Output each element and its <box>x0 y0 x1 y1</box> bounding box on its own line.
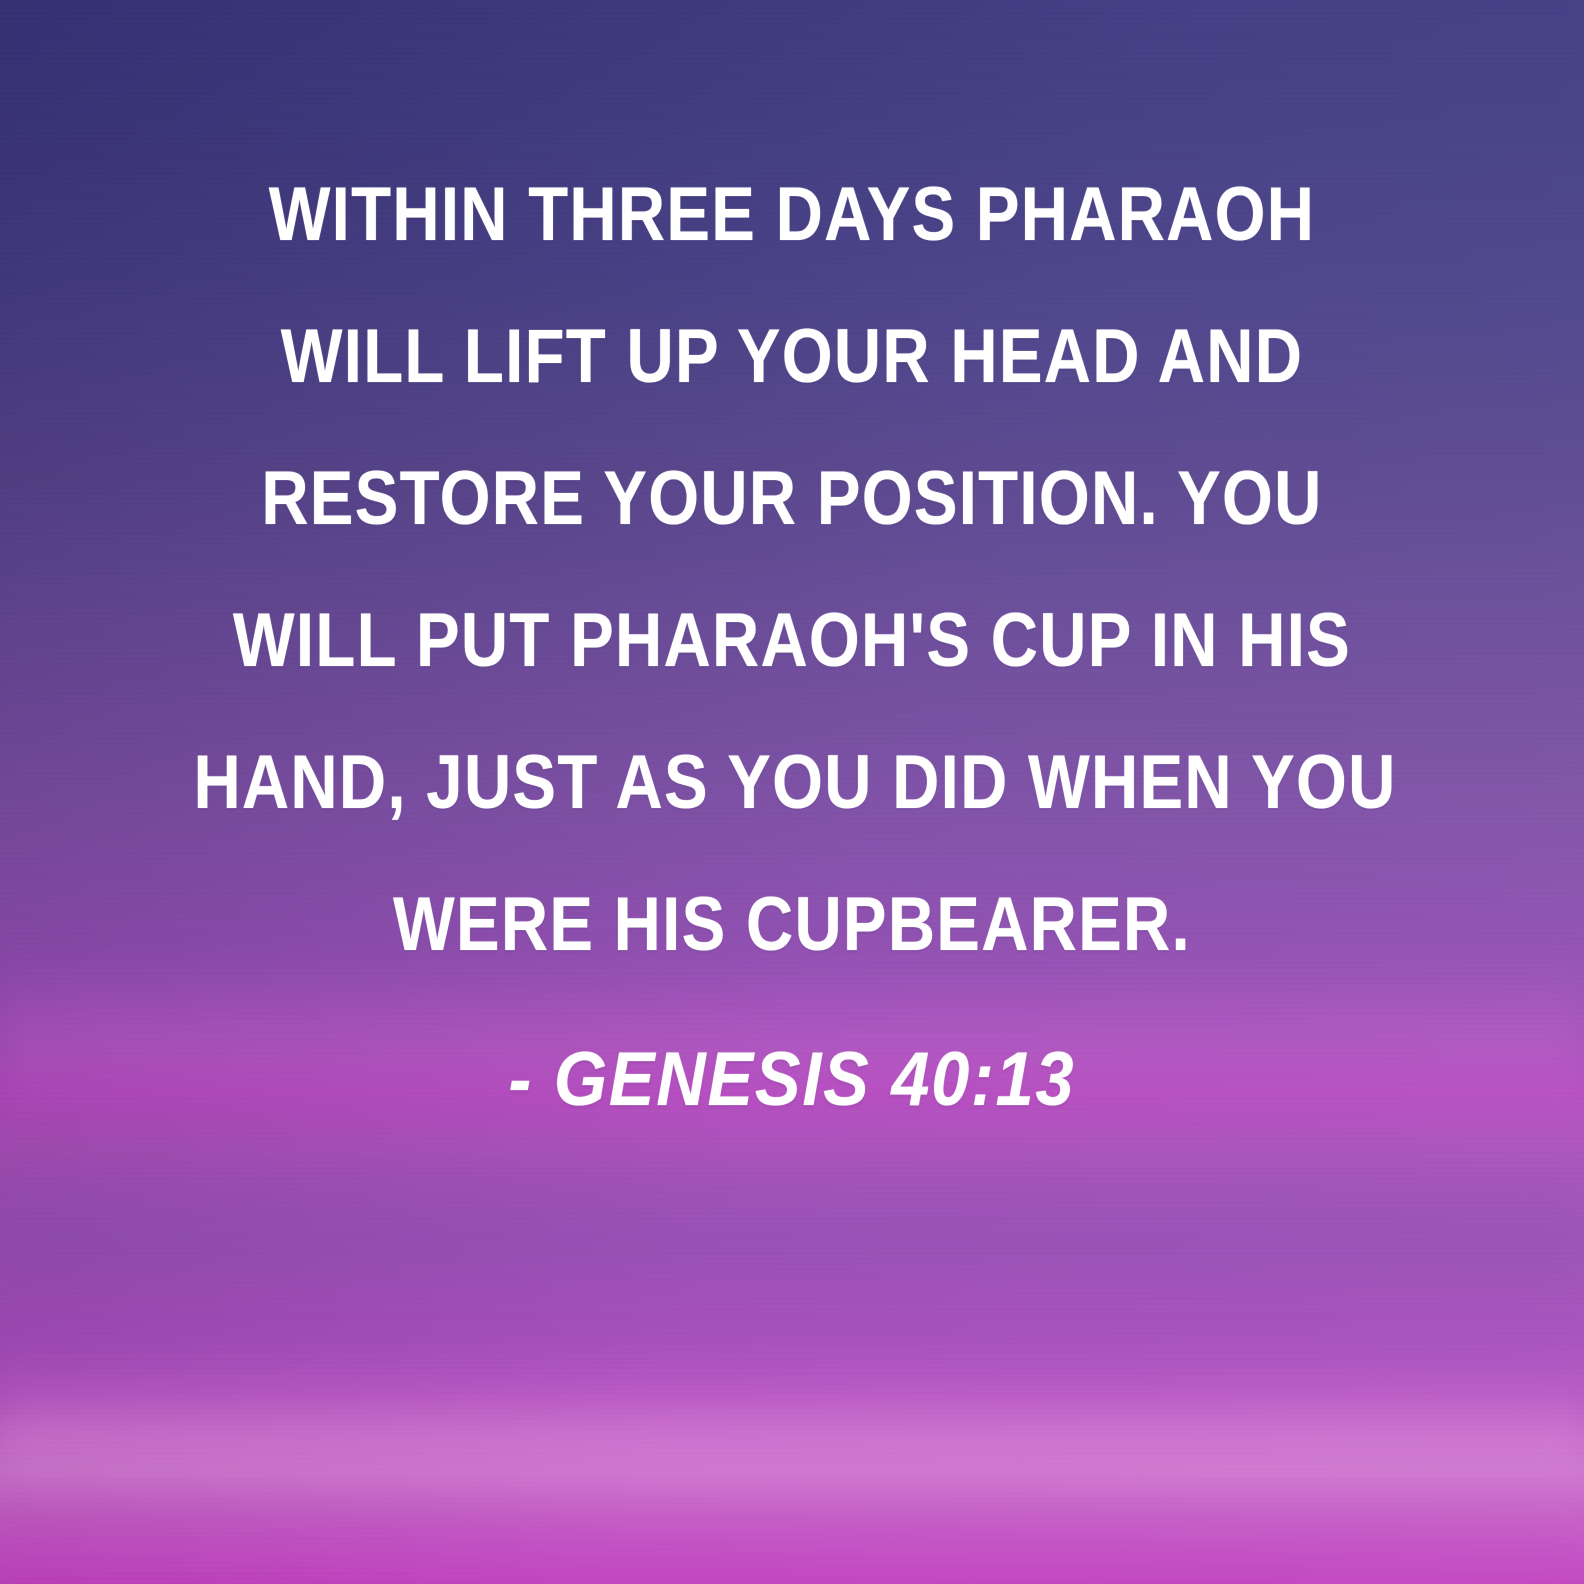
verse-citation: - GENESIS 40:13 <box>509 1020 1076 1140</box>
verse-line: HAND, JUST AS YOU DID WHEN YOU <box>193 712 1390 854</box>
verse-line: WITHIN THREE DAYS PHARAOH <box>193 144 1390 286</box>
verse-text-block: WITHIN THREE DAYS PHARAOH WILL LIFT UP Y… <box>0 144 1584 996</box>
verse-line: WILL PUT PHARAOH'S CUP IN HIS <box>193 570 1390 712</box>
verse-line: WILL LIFT UP YOUR HEAD AND <box>193 286 1390 428</box>
verse-line: RESTORE YOUR POSITION. YOU <box>193 428 1390 570</box>
verse-image-canvas: WITHIN THREE DAYS PHARAOH WILL LIFT UP Y… <box>0 0 1584 1584</box>
citation-block: - GENESIS 40:13 <box>0 1020 1584 1140</box>
verse-line: WERE HIS CUPBEARER. <box>193 854 1390 996</box>
